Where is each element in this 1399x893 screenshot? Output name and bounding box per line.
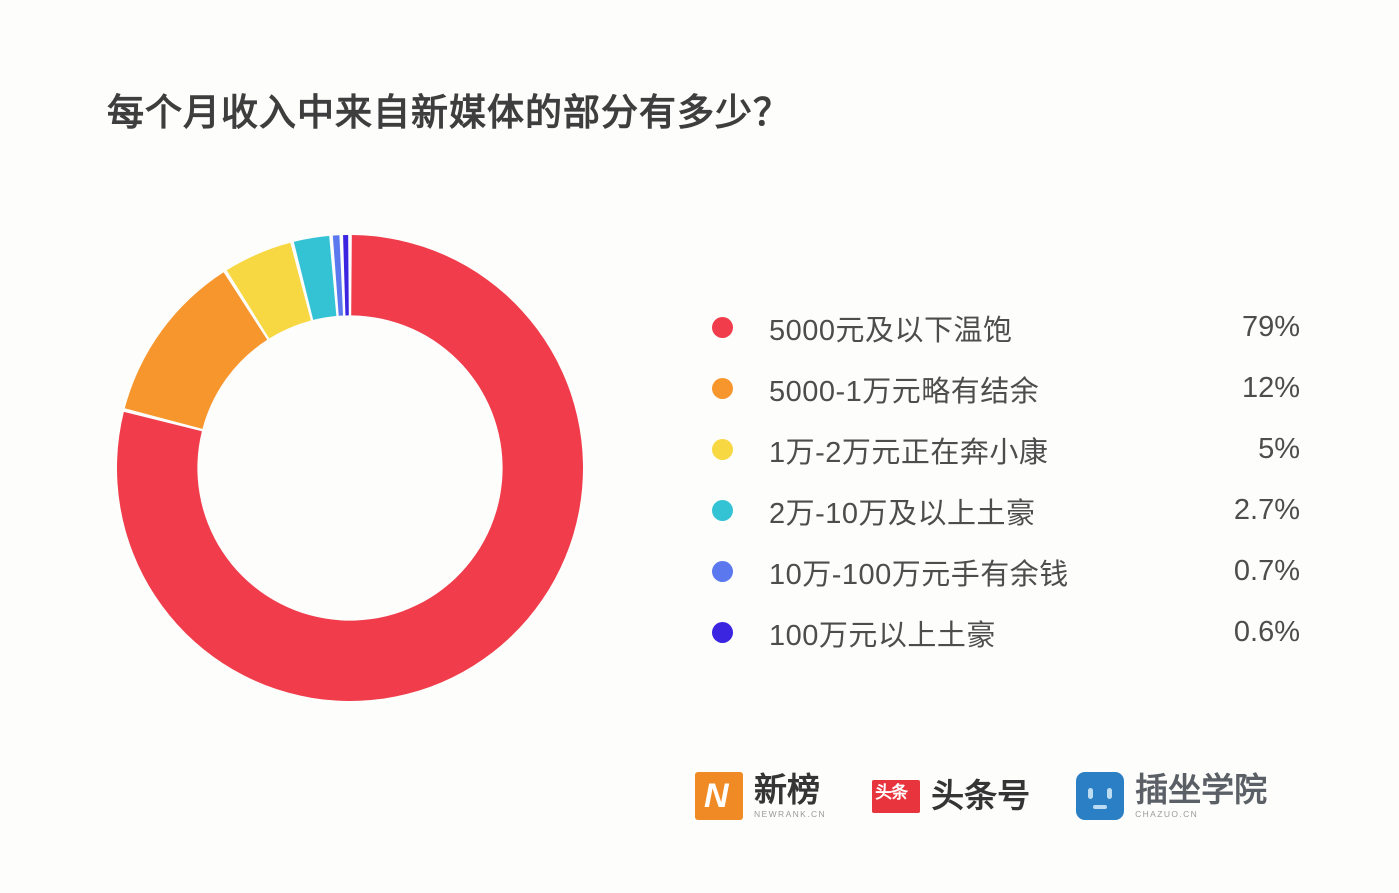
legend-item-value: 0.7% (1234, 555, 1300, 588)
logo-newrank: N 新榜 NEWRANK.CN (695, 772, 826, 820)
legend-item[interactable]: 5000-1万元略有结余 12% (712, 358, 1312, 419)
toutiaohao-mark-icon: 头条 (872, 780, 920, 813)
legend-item-label: 10万-100万元手有余钱 (769, 551, 1069, 593)
legend-color-swatch-icon (712, 622, 733, 643)
legend-item[interactable]: 100万元以上土豪 0.6% (712, 602, 1312, 663)
legend-item-value: 2.7% (1234, 494, 1300, 527)
legend-item-value: 12% (1242, 372, 1300, 405)
legend-color-swatch-icon (712, 561, 733, 582)
donut-chart-svg (117, 235, 583, 701)
legend-color-swatch-icon (712, 317, 733, 338)
legend-item-value: 79% (1242, 311, 1300, 344)
chazuo-mouth-icon (1093, 805, 1107, 809)
logo-chazuo: 插坐学院 CHAZUO.CN (1076, 772, 1267, 820)
legend-color-swatch-icon (712, 439, 733, 460)
chazuo-face-icon (1076, 772, 1124, 820)
legend-item[interactable]: 1万-2万元正在奔小康 5% (712, 419, 1312, 480)
newrank-text: 新榜 NEWRANK.CN (754, 773, 826, 819)
legend-item[interactable]: 10万-100万元手有余钱 0.7% (712, 541, 1312, 602)
newrank-mark-glyph: N (704, 779, 729, 813)
chazuo-sub: CHAZUO.CN (1135, 809, 1267, 819)
legend-item-value: 0.6% (1234, 616, 1300, 649)
page-title: 每个月收入中来自新媒体的部分有多少？ (107, 82, 791, 136)
chart-legend: 5000元及以下温饱 79% 5000-1万元略有结余 12% 1万-2万元正在… (712, 297, 1312, 663)
chazuo-name: 插坐学院 (1135, 773, 1267, 807)
logo-toutiaohao: 头条 头条号 (872, 779, 1030, 813)
newrank-name: 新榜 (754, 773, 826, 807)
legend-item-label: 5000元及以下温饱 (769, 307, 1013, 349)
donut-slice[interactable] (343, 235, 349, 315)
chart-page: 每个月收入中来自新媒体的部分有多少？ 5000元及以下温饱 79% 5000-1… (0, 0, 1399, 893)
chazuo-text: 插坐学院 CHAZUO.CN (1135, 773, 1267, 819)
chazuo-eye-right-icon (1107, 788, 1112, 799)
newrank-sub: NEWRANK.CN (754, 809, 826, 819)
legend-item-label: 1万-2万元正在奔小康 (769, 429, 1048, 471)
legend-item-label: 2万-10万及以上土豪 (769, 490, 1036, 532)
legend-item[interactable]: 2万-10万及以上土豪 2.7% (712, 480, 1312, 541)
legend-item-label: 5000-1万元略有结余 (769, 368, 1039, 410)
legend-item-label: 100万元以上土豪 (769, 612, 996, 654)
chazuo-eye-left-icon (1088, 788, 1093, 799)
toutiaohao-text: 头条号 (931, 779, 1030, 813)
toutiaohao-name: 头条号 (931, 779, 1030, 813)
toutiaohao-mark-glyph: 头条 (875, 784, 907, 802)
legend-color-swatch-icon (712, 500, 733, 521)
legend-color-swatch-icon (712, 378, 733, 399)
legend-item[interactable]: 5000元及以下温饱 79% (712, 297, 1312, 358)
newrank-mark-icon: N (695, 772, 743, 820)
partner-logos: N 新榜 NEWRANK.CN 头条 头条号 插坐学院 CHAZU (695, 772, 1313, 820)
donut-chart (117, 235, 583, 701)
legend-item-value: 5% (1258, 433, 1300, 466)
